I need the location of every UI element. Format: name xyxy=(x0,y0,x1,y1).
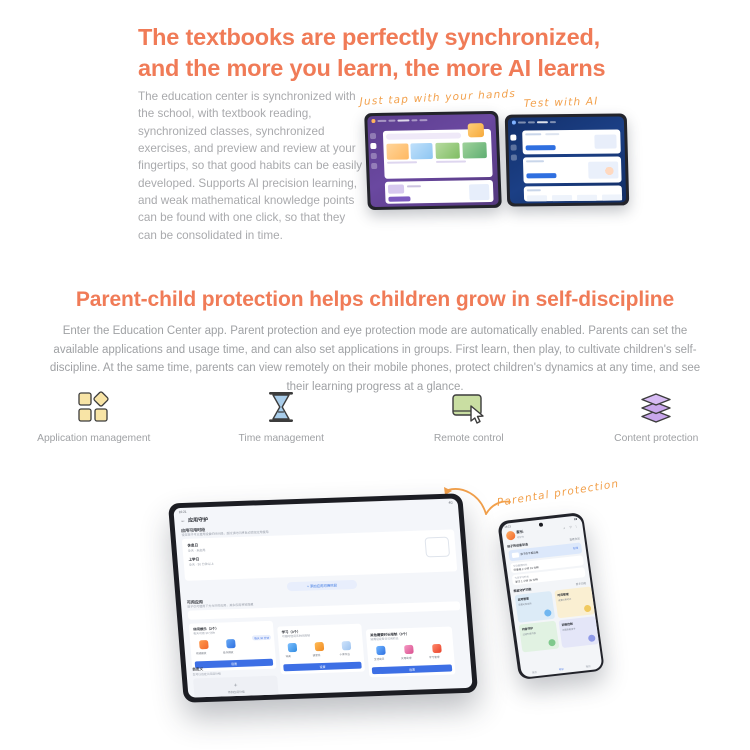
app-label: 学习管理 xyxy=(429,655,440,659)
tablet-purple-screen xyxy=(367,114,499,207)
add-group-label: 添加应用分组 xyxy=(228,689,245,694)
search-bar[interactable] xyxy=(386,133,461,140)
feature-label: Application management xyxy=(37,433,150,444)
app-icon[interactable] xyxy=(376,646,386,655)
device-name: 孩子的平板设备 xyxy=(520,550,539,556)
app-label: 词典 xyxy=(285,654,291,658)
phone-status-time: 16:21 xyxy=(504,525,511,529)
blue-card-1-button[interactable] xyxy=(526,145,556,150)
device-status: 在线 xyxy=(573,545,579,550)
group-badge: 每天 30 分钟 xyxy=(252,635,271,641)
tile-icon xyxy=(583,604,591,612)
rail-icon-3[interactable] xyxy=(511,155,517,161)
promo-badge[interactable] xyxy=(468,123,485,137)
feature-label: Time management xyxy=(239,433,324,444)
tile-icon xyxy=(543,609,551,617)
tablet-blue-statusbar xyxy=(508,116,624,126)
rail-icon-2[interactable] xyxy=(511,145,517,151)
group-desc: 可随时使用无时间限制 xyxy=(282,633,310,638)
section1-body-text: The education center is synchronized wit… xyxy=(138,88,363,244)
app-dot-icon xyxy=(371,119,375,123)
phone-grid-title: 家庭守护功能 xyxy=(513,587,531,593)
app-label: 音乐播放 xyxy=(223,650,234,654)
back-arrow-icon[interactable]: ← xyxy=(180,518,187,524)
schedule-row-value: 全天 · 30 分钟以上 xyxy=(189,562,214,567)
rail-icon-4[interactable] xyxy=(371,163,377,169)
app-icon[interactable] xyxy=(315,642,325,651)
thumb-4[interactable] xyxy=(462,142,487,158)
feature-tile[interactable]: 远程控制 远程协助孩子 xyxy=(558,616,599,648)
rail-icon-3[interactable] xyxy=(371,153,377,159)
ai-diagram xyxy=(588,161,618,178)
group-action-button[interactable]: 设置 xyxy=(283,662,362,672)
tab-home[interactable]: 首页 xyxy=(532,670,537,674)
add-group-button[interactable]: + 添加应用分组 xyxy=(193,676,279,698)
app-label: 视频播放 xyxy=(196,651,207,655)
app-label: 生活助手 xyxy=(374,657,385,661)
feature-tile[interactable]: 时间管理 设置可用时长 xyxy=(554,586,595,618)
blue-card-1 xyxy=(522,129,621,154)
app-group-card: 学习（3个） 可随时使用无时间限制 词典 课堂派 小度作业 设置 xyxy=(277,624,365,675)
tile-desc: 设置可用时长 xyxy=(558,596,572,601)
app-icon[interactable] xyxy=(432,644,442,653)
add-schedule-button[interactable]: + 添加应用可用时段 xyxy=(287,580,358,591)
annotation-test-with-ai: Test with AI xyxy=(524,95,599,110)
blue-card-3 xyxy=(524,185,622,201)
feature-tile[interactable]: 应用管理 设置可用应用 xyxy=(514,590,555,622)
blue-card-2-button[interactable] xyxy=(526,173,556,178)
group-action-button[interactable]: 设置 xyxy=(195,659,274,669)
tablet-purple-sidebar[interactable] xyxy=(368,125,381,207)
phone-header-icons[interactable]: ⌕ ♡ ⋮ xyxy=(563,524,578,530)
thumb-2[interactable] xyxy=(410,143,433,159)
phone-app-subtitle: 守护中 xyxy=(517,534,525,539)
phone-screen: 16:21 ▮▮ 家长 守护中 ⌕ ♡ ⋮ 孩子的设备状态 查看全部 孩子的平板… xyxy=(500,515,602,678)
page-title: 应用守护 xyxy=(188,517,209,524)
tile-icon xyxy=(587,634,595,642)
group-desc: 按需设定每日可用时长 xyxy=(370,636,398,641)
tablet-parental-control: 16:21 4G ← 应用守护 应用可用时段 设定孩子可以使用设备的时间段，超过… xyxy=(168,493,478,703)
phone-section-title: 孩子的设备状态 xyxy=(507,542,528,548)
rail-icon-1[interactable] xyxy=(370,133,376,139)
tablet-blue-sidebar[interactable] xyxy=(508,127,520,204)
illustration-placeholder xyxy=(424,537,450,558)
schedule-row-value: 全天 · 未启用 xyxy=(188,548,206,553)
phone-parental-app: 16:21 ▮▮ 家长 守护中 ⌕ ♡ ⋮ 孩子的设备状态 查看全部 孩子的平板… xyxy=(497,512,605,680)
app-group-card: 其他需要时长限制（3个） 按需设定每日可用时长 生活助手 实用助理 学习管理 设… xyxy=(366,626,456,677)
tablet-blue-ai-test-app xyxy=(505,113,630,206)
marketing-page: The textbooks are perfectly synchronized… xyxy=(0,0,750,750)
tablet-parental-control-screen: 16:21 4G ← 应用守护 应用可用时段 设定孩子可以使用设备的时间段，超过… xyxy=(173,498,472,697)
app-group-card: 休闲娱乐（2个） 每天可用 30 分钟 每天 30 分钟 视频播放 音乐播放 设… xyxy=(189,621,277,672)
tile-icon xyxy=(547,638,555,646)
app-icon[interactable] xyxy=(226,639,236,648)
feature-tile[interactable]: 内容守护 过滤不良内容 xyxy=(518,620,559,652)
camera-notch xyxy=(539,522,544,526)
group-desc: 每天可用 30 分钟 xyxy=(193,631,215,636)
feature-label: Content protection xyxy=(614,433,698,444)
app-label: 实用助理 xyxy=(401,656,412,660)
thumb-1[interactable] xyxy=(386,143,409,159)
plus-icon: + xyxy=(234,682,238,688)
annotation-parental-protection: Parental protection xyxy=(496,478,620,509)
feature-content-protection: Content protection xyxy=(563,386,750,444)
app-logo-icon xyxy=(505,530,515,540)
app-icon[interactable] xyxy=(342,641,352,650)
app-icon[interactable] xyxy=(288,643,298,652)
feature-time-management: Time management xyxy=(188,386,376,444)
feature-remote-control: Remote control xyxy=(375,386,563,444)
action-button[interactable] xyxy=(388,196,410,201)
heading-line-2: and the more you learn, the more AI lear… xyxy=(138,53,658,84)
section2-heading: Parent-child protection helps children g… xyxy=(0,288,750,312)
tablet-purple-lower-card xyxy=(385,180,494,204)
annotation-just-tap: Just tap with your hands xyxy=(359,88,516,108)
screen-cursor-icon xyxy=(450,386,488,428)
layers-stack-icon xyxy=(638,386,674,428)
add-schedule-label: 添加应用可用时段 xyxy=(310,583,338,589)
tablet-purple-education-app xyxy=(364,111,502,210)
feature-application-management: Application management xyxy=(0,386,188,444)
phone-status-icons: ▮▮ xyxy=(574,517,577,520)
heading-line-1: The textbooks are perfectly synchronized… xyxy=(138,22,658,53)
section1-heading: The textbooks are perfectly synchronized… xyxy=(138,22,658,85)
tablet-page-header: ← 应用守护 xyxy=(180,516,208,524)
app-icon[interactable] xyxy=(404,645,414,654)
tab-mine[interactable]: 我的 xyxy=(585,664,590,668)
blue-card-2 xyxy=(523,156,622,183)
app-label: 小度作业 xyxy=(339,652,350,656)
group-action-button[interactable]: 设置 xyxy=(372,664,453,674)
app-icon[interactable] xyxy=(199,640,209,649)
rail-icon-1[interactable] xyxy=(510,135,516,141)
section-textbook-sync: The textbooks are perfectly synchronized… xyxy=(0,0,750,270)
tablet-blue-screen xyxy=(508,116,626,203)
tile-desc: 过滤不良内容 xyxy=(522,630,536,635)
tab-guard[interactable]: 守护 xyxy=(559,667,564,671)
tile-desc: 远程协助孩子 xyxy=(562,626,576,631)
custom-group-desc: 您可以自定义应用分组 xyxy=(193,672,221,677)
feature-list: Application management Time management xyxy=(0,386,750,444)
phone-grid-action[interactable]: 更多功能 xyxy=(575,581,586,586)
status-time: 16:21 xyxy=(178,509,186,513)
phone-section-action[interactable]: 查看全部 xyxy=(569,536,580,541)
rail-icon-2[interactable] xyxy=(370,143,376,149)
tile-desc: 设置可用应用 xyxy=(518,601,532,606)
status-indicators: 4G xyxy=(448,500,453,504)
phone-tabbar[interactable]: 首页 守护 我的 xyxy=(521,662,602,675)
app-dot-icon xyxy=(512,120,516,124)
feature-label: Remote control xyxy=(434,433,504,444)
hourglass-icon xyxy=(265,386,297,428)
schedule-card: 休息日 全天 · 未启用 上学日 全天 · 30 分钟以上 xyxy=(182,529,457,580)
thumb-3[interactable] xyxy=(435,143,460,159)
app-label: 课堂派 xyxy=(312,653,320,657)
app-squares-icon xyxy=(77,386,111,428)
device-icon xyxy=(511,552,519,558)
tablet-status-bar: 16:21 4G xyxy=(173,498,458,515)
